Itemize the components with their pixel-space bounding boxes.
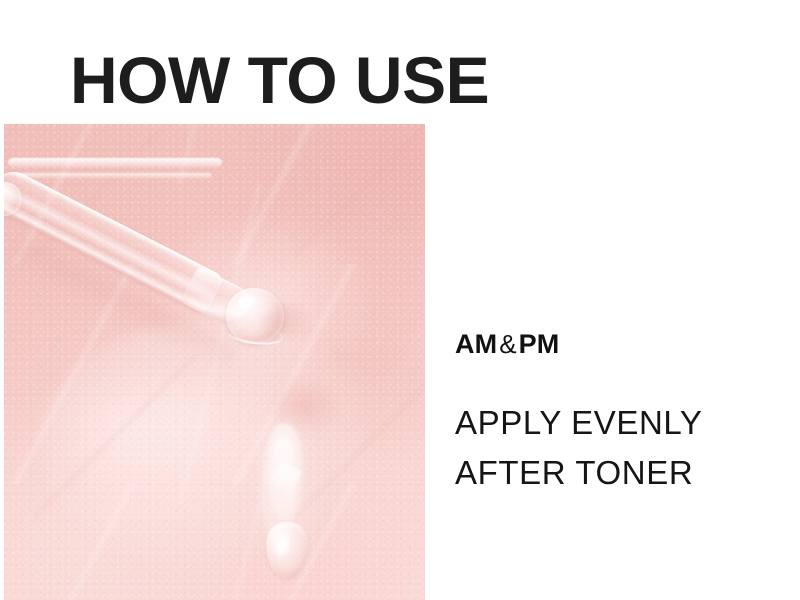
instruction-copy-block: AM&PM APPLY EVENLY AFTER TONER [455,330,775,498]
instruction-line: AFTER TONER [455,448,775,498]
instruction-line: APPLY EVENLY [455,398,775,448]
schedule-ampersand: & [497,329,518,359]
schedule-am-label: AM [455,329,497,359]
page-title: HOW TO USE [70,47,489,113]
usage-instructions: APPLY EVENLY AFTER TONER [455,398,775,498]
dropper-barrel-highlight [8,158,222,167]
usage-schedule: AM&PM [455,330,775,359]
dropper-barrel-highlight-secondary [16,173,212,179]
schedule-pm-label: PM [519,329,560,359]
serum-dropper-on-skin-photo [4,124,425,600]
how-to-use-slide: HOW TO USE AM&PM [0,0,800,600]
glass-dropper-icon [4,146,320,376]
